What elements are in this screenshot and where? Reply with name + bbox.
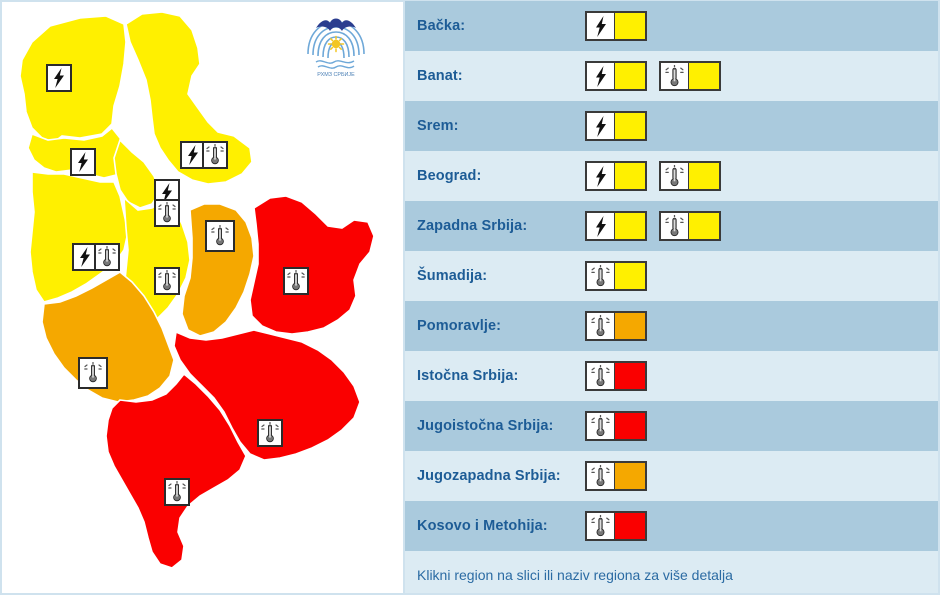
warning-badge-high-temperature[interactable]	[659, 211, 721, 241]
map-icon-kosovo-i-metohija-high-temperature[interactable]	[164, 478, 190, 506]
region-label[interactable]: Srem:	[417, 118, 585, 134]
warning-badge-high-temperature[interactable]	[585, 511, 647, 541]
warning-badge-thunderstorm[interactable]	[585, 61, 647, 91]
warning-level-swatch	[615, 363, 645, 389]
warning-badge-high-temperature[interactable]	[659, 61, 721, 91]
high-temperature-icon	[587, 463, 615, 489]
high-temperature-icon	[661, 63, 689, 89]
warning-badge-thunderstorm[interactable]	[585, 161, 647, 191]
thunderstorm-icon	[593, 66, 609, 87]
warning-badges	[585, 111, 647, 141]
high-temperature-icon	[664, 215, 685, 238]
region-row-pomoravlje[interactable]: Pomoravlje:	[405, 301, 938, 351]
thunderstorm-icon	[593, 16, 609, 37]
warning-badges	[585, 411, 647, 441]
region-row-jugoistocna-srbija[interactable]: Jugoistočna Srbija:	[405, 401, 938, 451]
warning-level-swatch	[689, 163, 719, 189]
region-label[interactable]: Istočna Srbija:	[417, 368, 585, 384]
map-icon-jugoistocna-srbija-high-temperature[interactable]	[257, 419, 283, 447]
thunderstorm-icon	[587, 113, 615, 139]
warning-badges	[585, 461, 647, 491]
warning-level-swatch	[615, 513, 645, 539]
region-row-zapadna-srbija[interactable]: Zapadna Srbija:	[405, 201, 938, 251]
warning-badge-high-temperature[interactable]	[585, 461, 647, 491]
region-row-backa[interactable]: Bačka:	[405, 1, 938, 51]
warning-badges	[585, 11, 647, 41]
high-temperature-icon	[587, 413, 615, 439]
region-row-beograd[interactable]: Beograd:	[405, 151, 938, 201]
warning-level-swatch	[615, 463, 645, 489]
logo-caption: РХМЗ СРБИЈЕ	[317, 72, 355, 78]
warning-badge-high-temperature[interactable]	[585, 311, 647, 341]
high-temperature-icon	[587, 263, 615, 289]
region-row-srem[interactable]: Srem:	[405, 101, 938, 151]
warning-badge-high-temperature[interactable]	[585, 411, 647, 441]
warning-badges	[585, 311, 647, 341]
region-row-istocna-srbija[interactable]: Istočna Srbija:	[405, 351, 938, 401]
high-temperature-icon	[661, 213, 689, 239]
warning-badges	[585, 361, 647, 391]
high-temperature-icon	[587, 363, 615, 389]
high-temperature-icon	[661, 163, 689, 189]
region-warning-list: Bačka:Banat:Srem:Beograd:Zapadna Srbija:…	[405, 0, 940, 595]
footer-hint: Klikni region na slici ili naziv regiona…	[405, 551, 938, 593]
thunderstorm-icon	[593, 216, 609, 237]
region-row-jugozapadna-srbija[interactable]: Jugozapadna Srbija:	[405, 451, 938, 501]
high-temperature-icon	[590, 265, 611, 288]
warning-level-swatch	[615, 413, 645, 439]
high-temperature-icon	[587, 313, 615, 339]
warning-badges	[585, 511, 647, 541]
region-label[interactable]: Šumadija:	[417, 268, 585, 284]
rhmz-serbia-logo: РХМЗ СРБИЈЕ	[302, 8, 370, 80]
high-temperature-icon	[590, 365, 611, 388]
warning-level-swatch	[615, 13, 645, 39]
map-icon-istocna-srbija-high-temperature[interactable]	[283, 267, 309, 295]
warning-badges	[585, 261, 647, 291]
thunderstorm-icon	[593, 166, 609, 187]
thunderstorm-icon	[587, 163, 615, 189]
region-label[interactable]: Jugoistočna Srbija:	[417, 418, 585, 434]
warning-badges	[585, 211, 721, 241]
map-icon-backa-thunderstorm[interactable]	[46, 64, 72, 92]
high-temperature-icon	[590, 415, 611, 438]
warning-level-swatch	[615, 63, 645, 89]
warning-badge-thunderstorm[interactable]	[585, 211, 647, 241]
high-temperature-icon	[664, 165, 685, 188]
warning-badge-thunderstorm[interactable]	[585, 111, 647, 141]
warning-level-swatch	[615, 213, 645, 239]
region-label[interactable]: Zapadna Srbija:	[417, 218, 585, 234]
region-row-banat[interactable]: Banat:	[405, 51, 938, 101]
map-icon-jugozapadna-srbija-high-temperature[interactable]	[78, 357, 108, 389]
map-panel: РХМЗ СРБИЈЕ	[0, 0, 405, 595]
thunderstorm-icon	[593, 116, 609, 137]
map-icon-zapadna-srbija-high-temperature[interactable]	[94, 243, 120, 271]
region-label[interactable]: Banat:	[417, 68, 585, 84]
map-icon-srem-thunderstorm[interactable]	[70, 148, 96, 176]
thunderstorm-icon	[587, 63, 615, 89]
map-icon-beograd-high-temperature[interactable]	[154, 199, 180, 227]
warning-level-swatch	[615, 163, 645, 189]
map-region-istocna-srbija[interactable]	[250, 196, 374, 334]
warning-level-swatch	[689, 213, 719, 239]
region-label[interactable]: Jugozapadna Srbija:	[417, 468, 585, 484]
thunderstorm-icon	[587, 13, 615, 39]
warning-badge-thunderstorm[interactable]	[585, 11, 647, 41]
high-temperature-icon	[590, 315, 611, 338]
warning-badge-high-temperature[interactable]	[585, 261, 647, 291]
high-temperature-icon	[664, 65, 685, 88]
map-icon-banat-high-temperature[interactable]	[202, 141, 228, 169]
map-region-backa[interactable]	[20, 16, 126, 142]
thunderstorm-icon	[587, 213, 615, 239]
warning-badges	[585, 161, 721, 191]
high-temperature-icon	[590, 465, 611, 488]
region-label[interactable]: Pomoravlje:	[417, 318, 585, 334]
high-temperature-icon	[587, 513, 615, 539]
region-label[interactable]: Bačka:	[417, 18, 585, 34]
region-label[interactable]: Kosovo i Metohija:	[417, 518, 585, 534]
warning-badge-high-temperature[interactable]	[585, 361, 647, 391]
warning-level-swatch	[689, 63, 719, 89]
warning-level-swatch	[615, 113, 645, 139]
region-row-kosovo-i-metohija[interactable]: Kosovo i Metohija:	[405, 501, 938, 551]
region-label[interactable]: Beograd:	[417, 168, 585, 184]
region-row-sumadija[interactable]: Šumadija:	[405, 251, 938, 301]
map-icon-pomoravlje-high-temperature[interactable]	[205, 220, 235, 252]
high-temperature-icon	[590, 515, 611, 538]
map-icon-sumadija-high-temperature[interactable]	[154, 267, 180, 295]
warning-badges	[585, 61, 721, 91]
warning-badge-high-temperature[interactable]	[659, 161, 721, 191]
warning-level-swatch	[615, 313, 645, 339]
warning-level-swatch	[615, 263, 645, 289]
weather-warning-app: РХМЗ СРБИЈЕ	[0, 0, 940, 595]
